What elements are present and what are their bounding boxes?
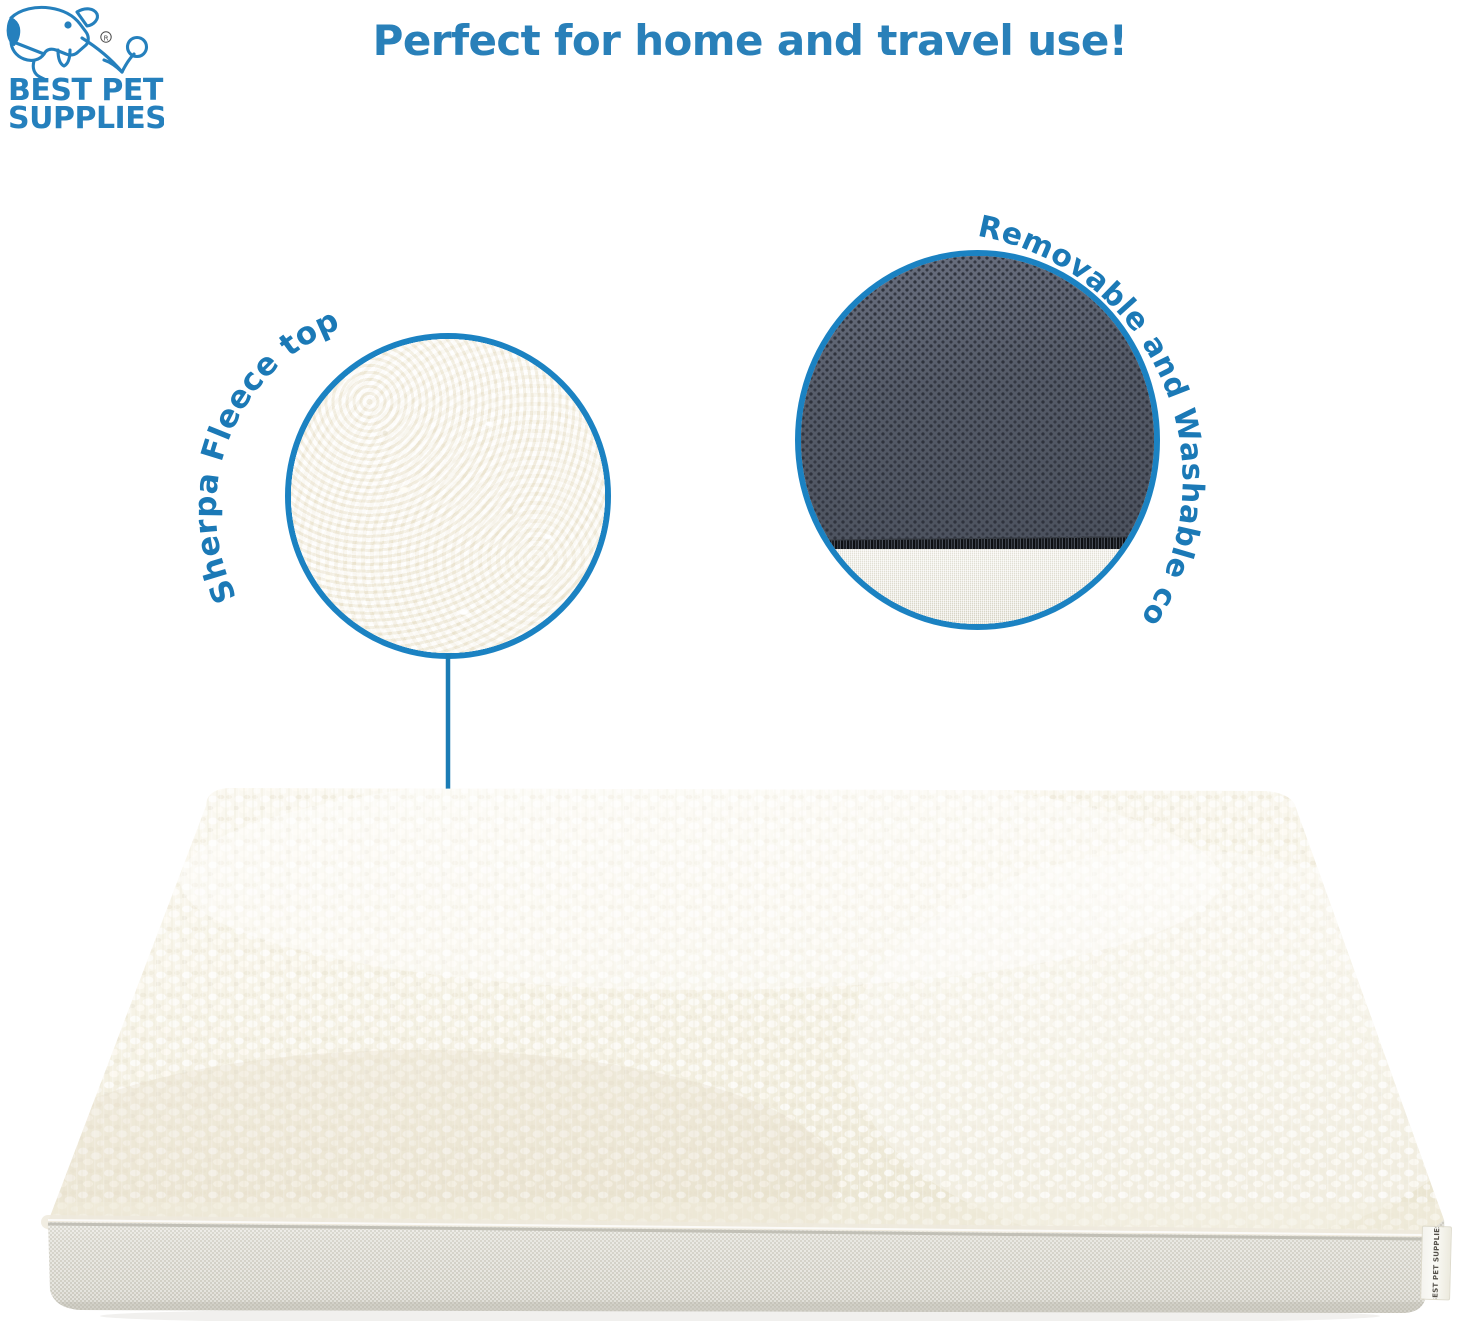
product-brand-tag-text: BEST PET SUPPLIES <box>1431 1226 1441 1301</box>
inner-cover-fabric <box>801 549 1154 624</box>
mesh-cover-swatch-disc <box>795 250 1160 630</box>
product-brand-tag: BEST PET SUPPLIES <box>1420 1226 1452 1301</box>
callout-removable-washable-cover: Removable and Washable cover <box>0 0 1477 760</box>
product-pet-bed <box>0 750 1477 1321</box>
perforated-mesh-fabric <box>801 256 1154 543</box>
infographic-canvas: R BEST PET SUPPLIES Perfect for home and… <box>0 0 1477 1321</box>
mesh-cover-texture <box>801 256 1154 624</box>
